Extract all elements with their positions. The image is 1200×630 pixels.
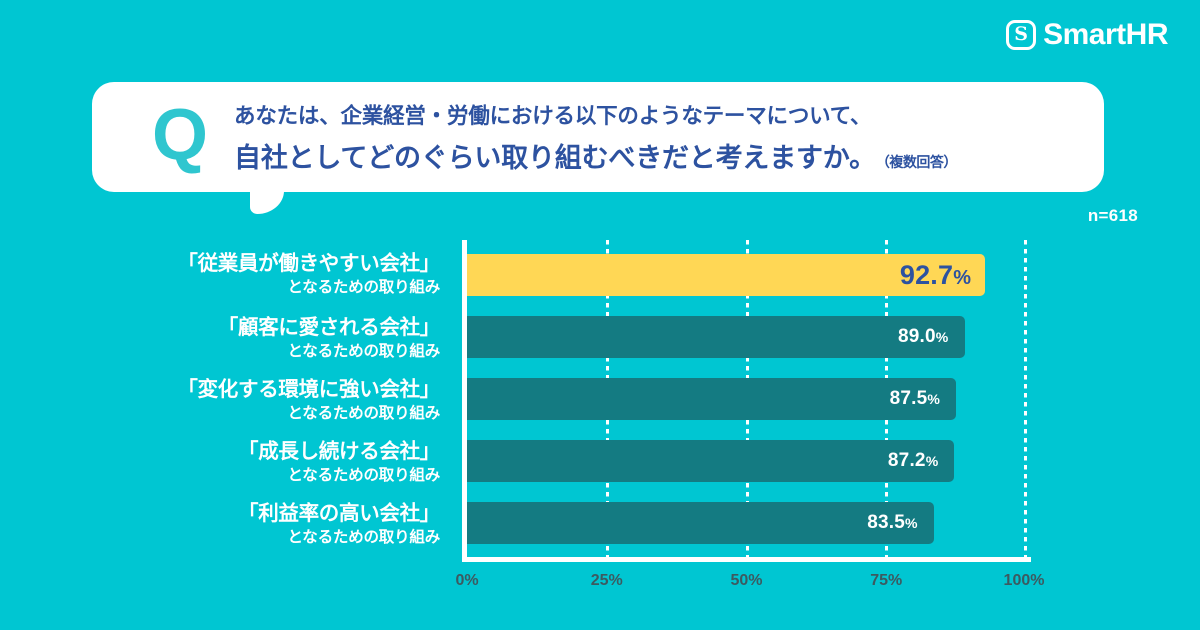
- question-text: あなたは、企業経営・労働における以下のようなテーマについて、 自社としてどのぐら…: [234, 99, 957, 175]
- gridline-100: [1024, 240, 1027, 562]
- question-line-1: あなたは、企業経営・労働における以下のようなテーマについて、: [234, 99, 957, 130]
- bar-1[interactable]: 89.0%: [467, 316, 965, 358]
- question-note: （複数回答）: [876, 152, 957, 172]
- bar-2[interactable]: 87.5%: [467, 378, 956, 420]
- bar-row-4[interactable]: 83.5%: [467, 502, 934, 544]
- x-axis-ticks: 0% 25% 50% 75% 100%: [467, 572, 1026, 602]
- question-marker: Q: [152, 99, 208, 171]
- bar-row-0[interactable]: 92.7%: [467, 254, 985, 296]
- speech-bubble-tail: [250, 188, 284, 220]
- bar-row-1[interactable]: 89.0%: [467, 316, 965, 358]
- x-tick-75: 75%: [870, 572, 902, 590]
- x-tick-25: 25%: [591, 572, 623, 590]
- bar-chart: 92.7% 89.0% 87.5% 87.2% 83.5%: [0, 232, 1200, 572]
- brand-name: SmartHR: [1043, 18, 1168, 52]
- bar-value-0: 92.7%: [900, 260, 985, 291]
- smarthr-s-icon: S: [1006, 20, 1036, 50]
- bar-3[interactable]: 87.2%: [467, 440, 954, 482]
- bar-value-3: 87.2%: [888, 450, 954, 472]
- smarthr-s-glyph: S: [1014, 25, 1028, 44]
- sample-size-label: n=618: [1088, 206, 1138, 226]
- question-bubble: Q あなたは、企業経営・労働における以下のようなテーマについて、 自社としてどの…: [92, 82, 1104, 192]
- x-tick-100: 100%: [1004, 572, 1045, 590]
- bar-4[interactable]: 83.5%: [467, 502, 934, 544]
- x-tick-0: 0%: [455, 572, 478, 590]
- question-line-2: 自社としてどのぐらい取り組むべきだと考えますか。: [234, 136, 876, 175]
- plot-area: 92.7% 89.0% 87.5% 87.2% 83.5%: [467, 232, 1026, 562]
- x-tick-50: 50%: [730, 572, 762, 590]
- bar-value-4: 83.5%: [867, 512, 933, 534]
- question-line-2-wrap: 自社としてどのぐらい取り組むべきだと考えますか。 （複数回答）: [234, 136, 957, 175]
- bar-row-3[interactable]: 87.2%: [467, 440, 954, 482]
- bar-0[interactable]: 92.7%: [467, 254, 985, 296]
- bar-value-2: 87.5%: [890, 388, 956, 410]
- brand-logo: S SmartHR: [1006, 18, 1168, 52]
- bar-value-1: 89.0%: [898, 326, 964, 348]
- bar-row-2[interactable]: 87.5%: [467, 378, 956, 420]
